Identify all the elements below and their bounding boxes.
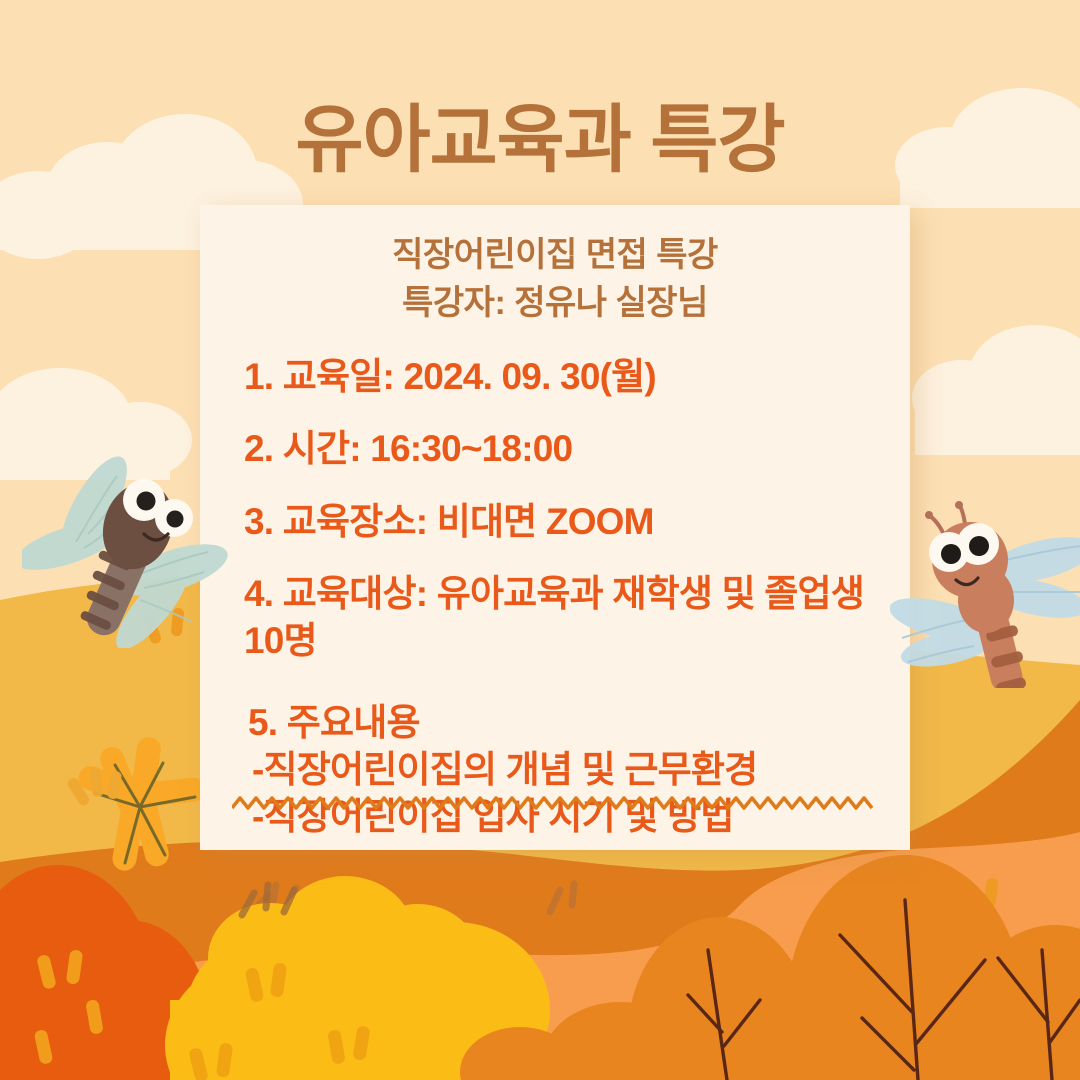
list-item: 4. 교육대상: 유아교육과 재학생 및 졸업생 10명	[222, 571, 888, 664]
dragonfly-icon-right	[890, 488, 1080, 688]
subtitle-line-1: 직장어린이집 면접 특강	[222, 231, 888, 279]
subtitle-line-2: 특강자: 정유나 실장님	[222, 279, 888, 327]
page-title: 유아교육과 특강	[0, 80, 1080, 187]
list-item-section-5: 5. 주요내용 -직장어린이집의 개념 및 근무환경 -직장어린이집 입사 시기…	[222, 699, 888, 841]
info-list: 1. 교육일: 2024. 09. 30(월) 2. 시간: 16:30~18:…	[222, 354, 888, 841]
section-5-heading: 5. 주요내용	[248, 699, 888, 746]
list-item: 2. 시간: 16:30~18:00	[222, 426, 888, 473]
poster-canvas: 직장어린이집 면접 특강 특강자: 정유나 실장님 1. 교육일: 2024. …	[0, 0, 1080, 1080]
info-card: 직장어린이집 면접 특강 특강자: 정유나 실장님 1. 교육일: 2024. …	[200, 205, 910, 850]
list-item: 3. 교육장소: 비대면 ZOOM	[222, 499, 888, 546]
zigzag-divider	[232, 792, 874, 814]
card-subtitle: 직장어린이집 면접 특강 특강자: 정유나 실장님	[222, 231, 888, 328]
dragonfly-icon-left	[22, 448, 252, 648]
list-item: 1. 교육일: 2024. 09. 30(월)	[222, 354, 888, 401]
section-5-bullet: -직장어린이집의 개념 및 근무환경	[248, 746, 888, 793]
